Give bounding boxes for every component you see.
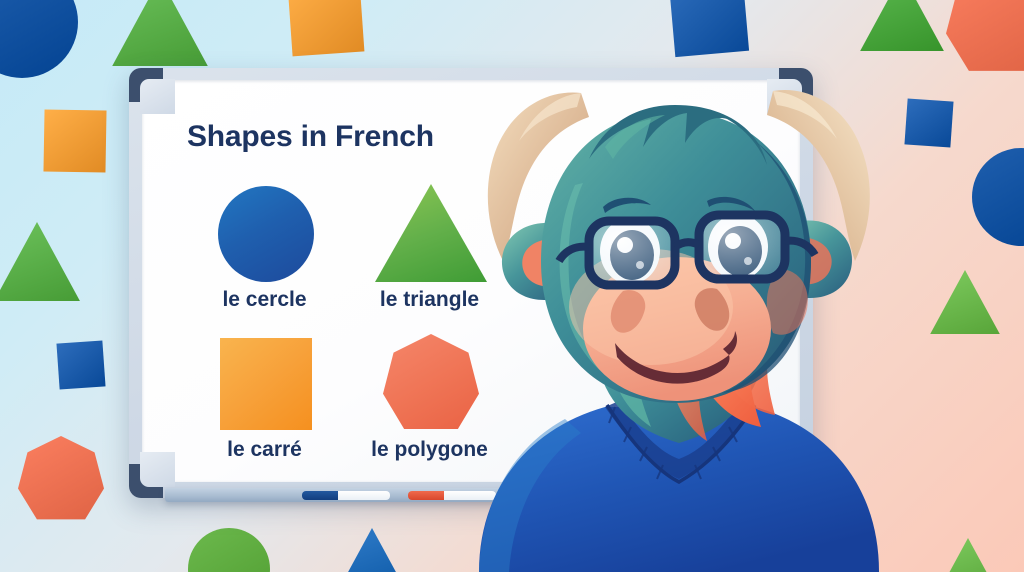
bg-triangle-green-bottomright xyxy=(938,538,998,572)
bg-circle-blue-right xyxy=(972,148,1024,246)
bg-square-orange-left xyxy=(43,109,106,172)
bg-triangle-green-midright xyxy=(930,270,1000,334)
bg-heptagon-coral-topright xyxy=(946,0,1024,74)
bg-triangle-green-topleft xyxy=(112,0,208,66)
whiteboard-corner-bottom-left xyxy=(129,464,163,498)
square-icon xyxy=(182,328,347,440)
shape-card-circle[interactable]: le cercle xyxy=(182,178,347,328)
circle-icon xyxy=(182,178,347,290)
bg-triangle-green-right xyxy=(860,0,944,51)
bg-triangle-blue-bottom xyxy=(336,528,408,572)
bg-circle-blue-topleft xyxy=(0,0,78,78)
bg-triangle-green-left xyxy=(0,222,80,301)
bg-square-blue-right xyxy=(904,98,953,147)
illustration-scene: Shapes in French le cercle le triangle xyxy=(0,0,1024,572)
whiteboard-corner-top-left xyxy=(129,68,163,102)
shape-card-square[interactable]: le carré xyxy=(182,328,347,478)
bg-square-blue-bottomleft xyxy=(56,340,105,389)
page-title: Shapes in French xyxy=(187,120,434,154)
shape-label-circle: le cercle xyxy=(182,288,347,312)
bg-square-orange-top xyxy=(288,0,365,56)
shape-label-square: le carré xyxy=(182,438,347,462)
blue-marker[interactable] xyxy=(302,491,390,500)
bg-circle-green-bottom xyxy=(188,528,270,572)
yak-teacher-character xyxy=(455,55,895,572)
bg-heptagon-coral-bottomleft xyxy=(18,436,104,522)
bg-square-blue-top xyxy=(669,0,749,57)
